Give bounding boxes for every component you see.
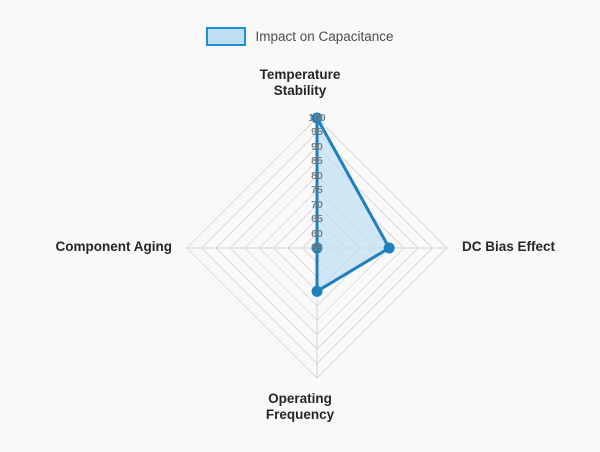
radial-tick-95: 95 (311, 126, 323, 138)
radial-tick-75: 75 (311, 184, 323, 196)
radial-tick-85: 85 (311, 155, 323, 167)
radial-tick-70: 70 (311, 199, 323, 211)
data-point-dc-bias-effect (384, 243, 395, 254)
axis-label-temperature-stability: Temperature Stability (0, 67, 600, 100)
radial-tick-55: 55 (311, 242, 323, 254)
radial-tick-100: 100 (308, 112, 326, 124)
series-polygon-impact-on-capacitance (317, 118, 389, 291)
radar-chart: Impact on Capacitance Temperature Stabil… (0, 0, 600, 452)
axis-label-component-aging: Component Aging (56, 239, 172, 255)
data-point-operating-frequency (312, 286, 323, 297)
radial-tick-60: 60 (311, 228, 323, 240)
radial-tick-80: 80 (311, 170, 323, 182)
radial-tick-90: 90 (311, 141, 323, 153)
axis-label-operating-frequency: Operating Frequency (0, 391, 600, 424)
radial-tick-65: 65 (311, 213, 323, 225)
axis-label-dc-bias-effect: DC Bias Effect (462, 239, 555, 255)
